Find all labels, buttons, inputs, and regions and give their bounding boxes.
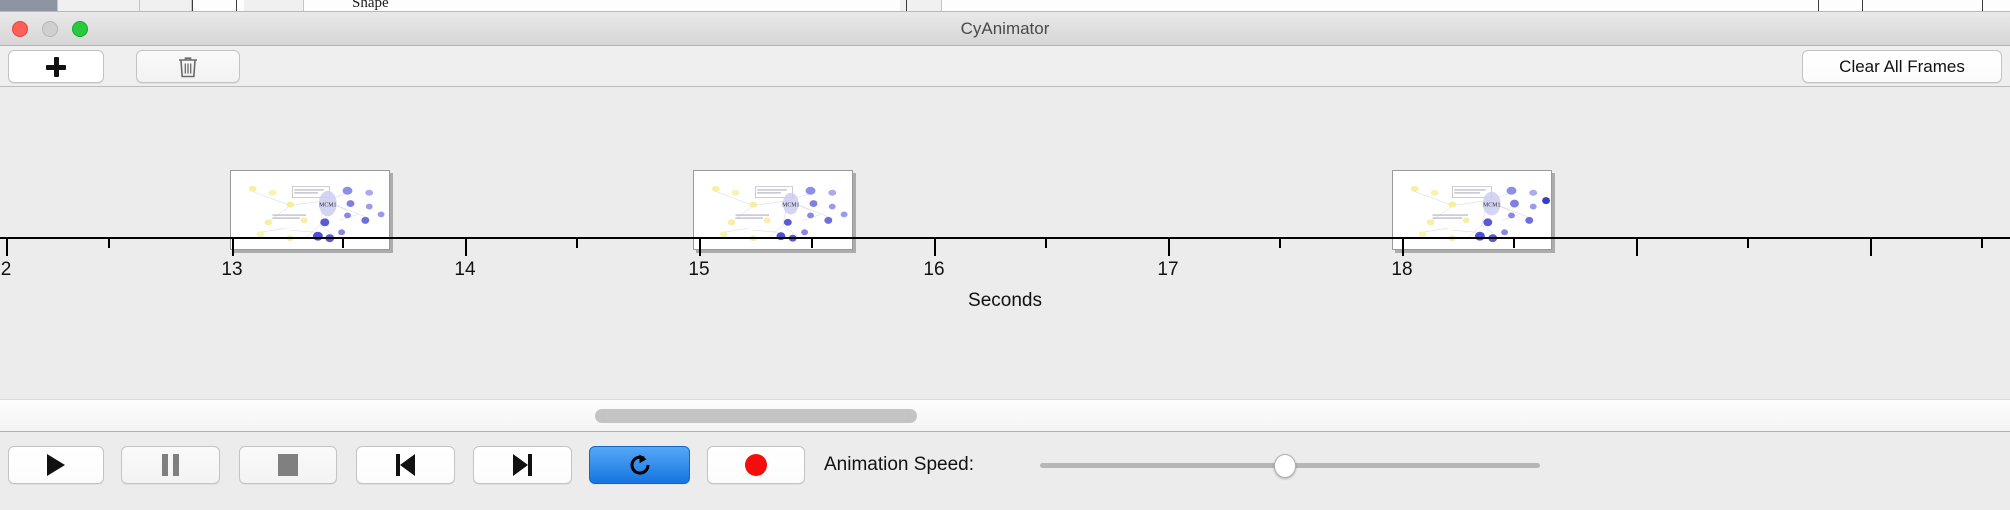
background-window-label: Shape bbox=[352, 0, 389, 12]
axis-tick-major bbox=[1636, 239, 1638, 256]
axis-tick-minor bbox=[1981, 239, 1983, 248]
cyanimator-window: Shape CyAnimator Clear All Frames bbox=[0, 0, 2010, 510]
timeline-axis bbox=[0, 237, 2010, 239]
svg-text:MCM1: MCM1 bbox=[319, 203, 336, 209]
skip-back-icon bbox=[396, 454, 415, 476]
axis-tick-major bbox=[1168, 239, 1170, 256]
axis-tick-label: 15 bbox=[688, 259, 709, 281]
background-chip bbox=[0, 0, 58, 12]
loop-button[interactable] bbox=[589, 446, 690, 484]
svg-text:MCM1: MCM1 bbox=[782, 203, 799, 209]
clear-all-frames-label: Clear All Frames bbox=[1839, 57, 1965, 77]
animation-speed-label: Animation Speed: bbox=[824, 454, 974, 476]
axis-tick-label: 2 bbox=[1, 259, 12, 281]
scrollbar-thumb[interactable] bbox=[595, 409, 917, 423]
add-frame-button[interactable] bbox=[8, 50, 104, 83]
stop-icon bbox=[278, 454, 298, 476]
background-chip bbox=[140, 0, 192, 12]
axis-tick-minor bbox=[342, 239, 344, 248]
timeline-scrollbar[interactable] bbox=[0, 399, 2010, 432]
axis-tick-label: 16 bbox=[923, 259, 944, 281]
background-window-strip: Shape bbox=[0, 0, 2010, 12]
axis-tick-minor bbox=[811, 239, 813, 248]
pause-icon bbox=[162, 454, 179, 476]
axis-tick-major bbox=[232, 239, 234, 256]
background-tick bbox=[236, 0, 237, 12]
axis-tick-minor bbox=[576, 239, 578, 248]
axis-tick-major bbox=[934, 239, 936, 256]
axis-tick-label: 17 bbox=[1157, 259, 1178, 281]
timeline-panel[interactable]: MCM1 bbox=[0, 87, 2010, 399]
background-chip bbox=[58, 0, 140, 12]
toolbar: Clear All Frames bbox=[0, 46, 2010, 87]
axis-tick-major bbox=[699, 239, 701, 256]
background-tick bbox=[192, 0, 193, 12]
axis-tick-label: 13 bbox=[221, 259, 242, 281]
skip-to-start-button[interactable] bbox=[356, 446, 455, 484]
axis-tick-label: 18 bbox=[1391, 259, 1412, 281]
axis-tick-minor bbox=[1279, 239, 1281, 248]
title-bar: CyAnimator bbox=[0, 12, 2010, 46]
background-chip bbox=[244, 0, 304, 12]
skip-forward-icon bbox=[513, 454, 532, 476]
axis-tick-minor bbox=[1747, 239, 1749, 248]
trash-icon bbox=[177, 55, 199, 79]
record-icon bbox=[745, 454, 767, 476]
background-tick bbox=[1982, 0, 1983, 12]
delete-frame-button[interactable] bbox=[136, 50, 240, 83]
axis-tick-major bbox=[1402, 239, 1404, 256]
axis-tick-major bbox=[6, 239, 8, 256]
axis-tick-major bbox=[1870, 239, 1872, 256]
pause-button[interactable] bbox=[121, 446, 220, 484]
record-button[interactable] bbox=[707, 446, 805, 484]
axis-tick-major bbox=[465, 239, 467, 256]
axis-tick-minor bbox=[1045, 239, 1047, 248]
background-tick bbox=[906, 0, 907, 12]
plus-icon bbox=[46, 57, 66, 77]
skip-to-end-button[interactable] bbox=[473, 446, 572, 484]
background-tick bbox=[1818, 0, 1819, 12]
stop-button[interactable] bbox=[239, 446, 337, 484]
play-icon bbox=[47, 454, 65, 476]
axis-tick-minor bbox=[108, 239, 110, 248]
play-button[interactable] bbox=[8, 446, 104, 484]
loop-icon bbox=[627, 452, 653, 478]
transport-bar: Animation Speed: bbox=[0, 432, 2010, 510]
axis-tick-label: 14 bbox=[454, 259, 475, 281]
window-title: CyAnimator bbox=[0, 19, 2010, 39]
clear-all-frames-button[interactable]: Clear All Frames bbox=[1802, 50, 2002, 83]
animation-speed-slider-knob[interactable] bbox=[1274, 454, 1296, 478]
background-tick bbox=[1862, 0, 1863, 12]
svg-text:MCM1: MCM1 bbox=[1483, 203, 1500, 209]
axis-title: Seconds bbox=[0, 290, 2010, 312]
axis-tick-minor bbox=[1513, 239, 1515, 248]
